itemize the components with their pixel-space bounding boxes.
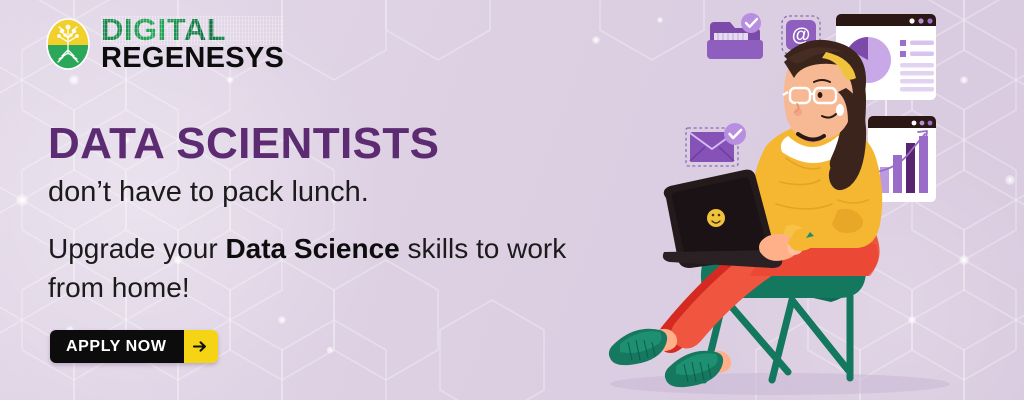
smiley-sticker-icon bbox=[707, 209, 725, 227]
logo-word-regenesys: REGENESYS bbox=[101, 45, 284, 72]
check-badge-icon bbox=[741, 13, 761, 33]
promo-banner: DIGITAL REGENESYS DATA SCIENTISTS don’t … bbox=[0, 0, 1024, 400]
envelope-icon bbox=[686, 123, 746, 166]
illustration: @ bbox=[550, 0, 1024, 400]
logo-word-digital: DIGITAL bbox=[101, 16, 284, 45]
slippers bbox=[609, 329, 723, 387]
page-title: DATA SCIENTISTS bbox=[48, 122, 439, 166]
tree-emblem-icon bbox=[44, 16, 92, 72]
apply-now-button[interactable]: APPLY NOW bbox=[50, 330, 218, 363]
banner-left-content: DIGITAL REGENESYS DATA SCIENTISTS don’t … bbox=[0, 0, 620, 400]
subheadline: don’t have to pack lunch. bbox=[48, 178, 369, 207]
check-badge-icon bbox=[724, 123, 746, 145]
body-copy-emphasis: Data Science bbox=[225, 233, 399, 264]
body-copy: Upgrade your Data Science skills to work… bbox=[48, 230, 578, 307]
folder-icon bbox=[707, 13, 763, 59]
apply-now-label: APPLY NOW bbox=[50, 330, 184, 363]
arrow-right-icon bbox=[184, 330, 218, 363]
body-copy-prefix: Upgrade your bbox=[48, 233, 225, 264]
brand-logo[interactable]: DIGITAL REGENESYS bbox=[44, 16, 284, 72]
